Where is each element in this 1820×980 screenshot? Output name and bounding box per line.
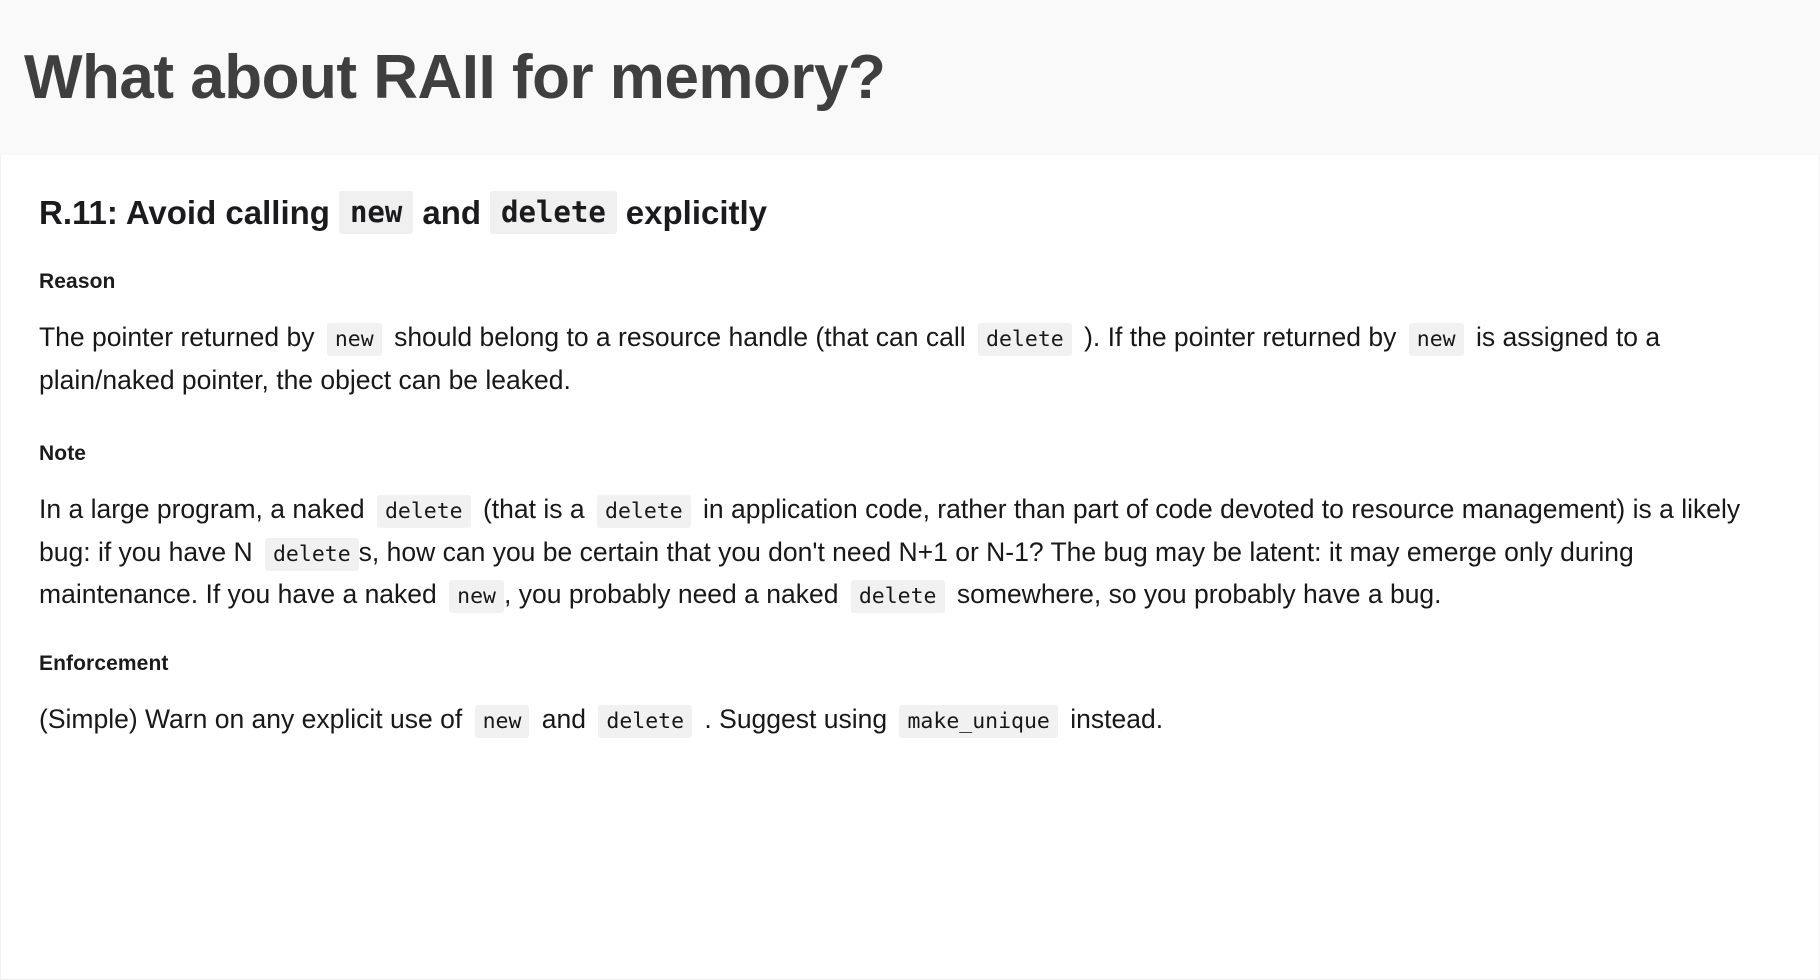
reason-text-1: The pointer returned by [39,322,314,352]
slide-root: What about RAII for memory? R.11: Avoid … [0,0,1820,980]
note-text-2: (that is a [483,494,585,524]
rule-heading-part1: R.11: Avoid calling [39,192,330,233]
section-paragraph-reason: The pointer returned by new should belon… [39,316,1784,402]
note-text-6: somewhere, so you probably have a bug. [957,579,1442,609]
note-code-delete-4: delete [851,580,945,613]
section-reason: Reason The pointer returned by new shoul… [39,270,1785,402]
enforcement-text-1: (Simple) Warn on any explicit use of [39,704,462,734]
reason-code-new-1: new [327,323,382,356]
section-paragraph-note: In a large program, a naked delete (that… [39,488,1784,617]
rule-heading: R.11: Avoid calling new and delete expli… [39,191,1785,234]
note-code-delete-2: delete [597,495,691,528]
enforcement-code-make-unique: make_unique [899,705,1057,738]
reason-text-2: should belong to a resource handle (that… [394,322,966,352]
rule-heading-part3: explicitly [626,192,767,233]
enforcement-text-3: . Suggest using [704,704,887,734]
section-enforcement: Enforcement (Simple) Warn on any explici… [39,652,1785,741]
rule-heading-part2: and [422,192,481,233]
section-label-note: Note [39,442,1785,466]
reason-code-new-2: new [1409,323,1464,356]
note-text-1: In a large program, a naked [39,494,365,524]
slide-content: R.11: Avoid calling new and delete expli… [0,155,1820,980]
note-code-new: new [449,580,504,613]
enforcement-code-delete: delete [598,705,692,738]
section-paragraph-enforcement: (Simple) Warn on any explicit use of new… [39,698,1784,741]
page-title: What about RAII for memory? [24,45,885,110]
section-note: Note In a large program, a naked delete … [39,442,1785,617]
note-code-delete-3: delete [265,538,359,571]
reason-text-3: ). If the pointer returned by [1084,322,1396,352]
enforcement-code-new: new [475,705,530,738]
reason-code-delete: delete [978,323,1072,356]
rule-heading-code-new: new [339,191,413,234]
section-label-reason: Reason [39,270,1785,294]
enforcement-text-4: instead. [1070,704,1163,734]
note-text-5: , you probably need a naked [504,579,838,609]
section-label-enforcement: Enforcement [39,652,1785,676]
enforcement-text-2: and [542,704,586,734]
slide-header: What about RAII for memory? [0,0,1820,155]
note-code-delete-1: delete [377,495,471,528]
rule-heading-code-delete: delete [490,191,617,234]
